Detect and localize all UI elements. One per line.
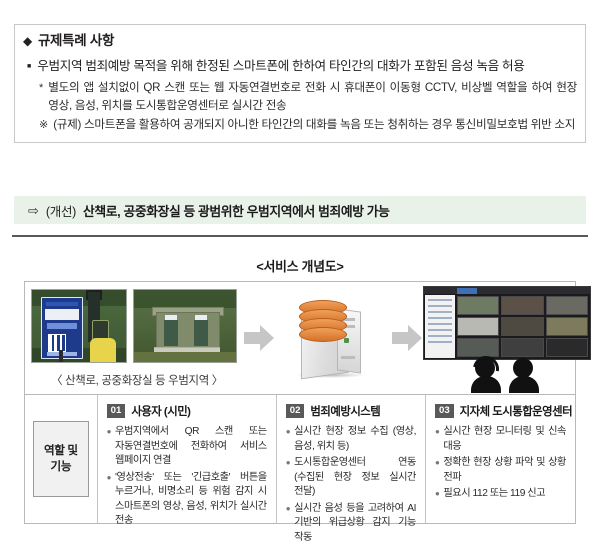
signboard-title-block bbox=[45, 309, 79, 320]
diagram-illustration-row: 〈 산책로, 공중화장실 등 우범지역 〉 bbox=[25, 282, 575, 394]
operator-head bbox=[513, 358, 533, 378]
list-item-text: 정확한 현장 상황 파악 및 상황 전파 bbox=[443, 456, 566, 485]
list-item: ● 도시통합운영센터 연동 (수집된 현장 정보 실시간 전달) bbox=[286, 456, 416, 500]
camera-list-item bbox=[428, 335, 452, 337]
block-arrow-right-icon bbox=[244, 323, 274, 353]
restroom-door-left bbox=[164, 320, 178, 346]
site-photo-pair bbox=[31, 289, 243, 363]
monitor-titlebar bbox=[424, 287, 590, 294]
improvement-text: 산책로, 공중화장실 등 광범위한 우범지역에서 범죄예방 가능 bbox=[83, 201, 389, 220]
role-column-control-center: 03 지자체 도시통합운영센터 ● 실시간 현장 모니터링 및 신속 대응 ● … bbox=[425, 395, 575, 523]
bullet-dot-icon: ● bbox=[435, 487, 439, 502]
bullet-dot-icon: ● bbox=[286, 456, 290, 471]
concept-diagram-title: <서비스 개념도> bbox=[0, 256, 600, 275]
bullet-dot-icon: ● bbox=[107, 425, 111, 440]
role-column-header: 02 범죄예방시스템 bbox=[286, 403, 416, 419]
qr-code-icon bbox=[48, 334, 66, 352]
list-item-text: 실시간 현장 정보 수집 (영상, 음성, 위치 등) bbox=[294, 425, 416, 454]
camera-tile bbox=[457, 338, 499, 357]
diagram-arrow-2 bbox=[391, 282, 423, 394]
camera-list-item bbox=[428, 305, 452, 307]
camera-grid bbox=[457, 296, 588, 357]
role-label-box: 역할 및 기능 bbox=[33, 421, 89, 497]
list-item: ● 정확한 현장 상황 파악 및 상황 전파 bbox=[435, 456, 566, 485]
bullet-dot-icon: ● bbox=[435, 425, 439, 440]
camera-tile bbox=[546, 338, 588, 357]
role-item-list: ● 우범지역에서 QR 스캔 또는 자동연결번호에 전화하여 서비스 웹페이지 … bbox=[107, 425, 267, 529]
diagram-arrow-1 bbox=[243, 282, 275, 394]
role-column-title: 지자체 도시통합운영센터 bbox=[460, 403, 572, 419]
camera-tile bbox=[501, 317, 543, 336]
step-number-badge: 02 bbox=[286, 404, 305, 418]
bullet-dot-icon: ● bbox=[435, 456, 439, 471]
camera-tile bbox=[501, 338, 543, 357]
list-item-text: 필요시 112 또는 119 신고 bbox=[443, 487, 545, 502]
camera-tile bbox=[457, 317, 499, 336]
list-item: ● 실시간 현장 정보 수집 (영상, 음성, 위치 등) bbox=[286, 425, 416, 454]
role-column-header: 03 지자체 도시통합운영센터 bbox=[435, 403, 566, 419]
person-sleeve bbox=[90, 338, 116, 363]
section-divider bbox=[12, 235, 588, 237]
step-number-badge: 03 bbox=[435, 404, 454, 418]
role-label-text: 역할 및 기능 bbox=[44, 443, 78, 475]
regulation-note-1: * 별도의 앱 설치없이 QR 스캔 또는 웹 자동연결번호로 전화 시 휴대폰… bbox=[39, 79, 577, 115]
list-item-text: 실시간 현장 모니터링 및 신속 대응 bbox=[443, 425, 566, 454]
role-function-table: 역할 및 기능 01 사용자 (시민) ● 우범지역에서 QR 스캔 또는 자동… bbox=[25, 394, 575, 523]
camera-list-item bbox=[428, 323, 452, 325]
camera-list-item bbox=[428, 311, 452, 313]
role-column-header: 01 사용자 (시민) bbox=[107, 403, 267, 419]
regulation-panel: ◆ 규제특례 사항 ■ 우범지역 범죄예방 목적을 위해 한정된 스마트폰에 한… bbox=[14, 24, 586, 143]
camera-list-item bbox=[428, 341, 452, 343]
diagram-stage-system bbox=[275, 282, 390, 380]
restroom-ground bbox=[134, 352, 236, 362]
step-number-badge: 01 bbox=[107, 404, 126, 418]
list-item: ● '영상전송' 또는 '긴급호출' 버튼을 누르거나, 비명소리 등 위험 감… bbox=[107, 471, 267, 529]
site-photo-caption: 〈 산책로, 공중화장실 등 우범지역 〉 bbox=[31, 372, 243, 388]
camera-tile bbox=[546, 317, 588, 336]
list-item: ● 실시간 현장 모니터링 및 신속 대응 bbox=[435, 425, 566, 454]
database-disc-4 bbox=[299, 327, 347, 342]
camera-list-item bbox=[428, 329, 452, 331]
role-label-line-1: 역할 및 bbox=[44, 444, 78, 457]
signboard-header-bar bbox=[46, 302, 78, 306]
list-item-text: 도시통합운영센터 연동 (수집된 현장 정보 실시간 전달) bbox=[294, 456, 416, 500]
regulation-heading: ◆ 규제특례 사항 bbox=[23, 32, 577, 50]
service-concept-diagram: 〈 산책로, 공중화장실 등 우범지역 〉 bbox=[24, 281, 576, 524]
square-bullet-icon: ■ bbox=[27, 57, 31, 76]
role-label-cell: 역할 및 기능 bbox=[25, 395, 97, 523]
rightwards-open-arrow-icon: ⇨ bbox=[28, 204, 39, 217]
role-column-user: 01 사용자 (시민) ● 우범지역에서 QR 스캔 또는 자동연결번호에 전화… bbox=[97, 395, 276, 523]
operator-body bbox=[509, 376, 539, 393]
list-item: ● 필요시 112 또는 119 신고 bbox=[435, 487, 566, 502]
list-item-text: '영상전송' 또는 '긴급호출' 버튼을 누르거나, 비명소리 등 위험 감지 … bbox=[115, 471, 267, 529]
role-column-title: 사용자 (시민) bbox=[131, 403, 190, 419]
monitor-camera-list bbox=[425, 295, 455, 358]
restroom-door-right bbox=[194, 320, 208, 346]
operator-body bbox=[471, 376, 501, 393]
regulation-note-1-text: 별도의 앱 설치없이 QR 스캔 또는 웹 자동연결번호로 전화 시 휴대폰이 … bbox=[48, 79, 577, 115]
crime-prevention-server-icon bbox=[285, 294, 381, 380]
regulation-note-2-text: (규제) 스마트폰을 활용하여 공개되지 아니한 타인간의 대화를 녹음 또는 … bbox=[53, 116, 577, 134]
cctv-monitoring-wall-image bbox=[423, 286, 591, 390]
control-room-operators-icon bbox=[471, 356, 543, 390]
signboard-subtitle-block bbox=[47, 323, 77, 329]
camera-list-item bbox=[428, 299, 452, 301]
regulation-heading-text: 규제특례 사항 bbox=[38, 32, 114, 50]
role-column-system: 02 범죄예방시스템 ● 실시간 현장 정보 수집 (영상, 음성, 위치 등)… bbox=[276, 395, 425, 523]
role-item-list: ● 실시간 현장 모니터링 및 신속 대응 ● 정확한 현장 상황 파악 및 상… bbox=[435, 425, 566, 502]
camera-tile bbox=[501, 296, 543, 315]
monitoring-screen bbox=[423, 286, 591, 360]
diamond-icon: ◆ bbox=[23, 32, 32, 50]
signboard-pole bbox=[59, 350, 63, 363]
bullet-dot-icon: ● bbox=[107, 471, 111, 486]
server-slot-3 bbox=[341, 356, 355, 359]
restroom-foliage bbox=[134, 290, 236, 308]
improvement-label: (개선) bbox=[46, 201, 76, 220]
regulation-note-2: ※ (규제) 스마트폰을 활용하여 공개되지 아니한 타인간의 대화를 녹음 또… bbox=[39, 116, 577, 134]
block-arrow-right-icon bbox=[392, 323, 422, 353]
list-item-text: 우범지역에서 QR 스캔 또는 자동연결번호에 전화하여 서비스 웹페이지 연결 bbox=[115, 425, 267, 469]
reference-mark: ※ bbox=[39, 116, 48, 134]
improvement-strip: ⇨ (개선) 산책로, 공중화장실 등 광범위한 우범지역에서 범죄예방 가능 bbox=[14, 196, 586, 224]
diagram-stage-site: 〈 산책로, 공중화장실 등 우범지역 〉 bbox=[25, 282, 243, 388]
public-restroom-photo bbox=[133, 289, 237, 363]
walking-path-safety-sign-photo bbox=[31, 289, 127, 363]
regulation-bullet-text: 우범지역 범죄예방 목적을 위해 한정된 스마트폰에 한하여 타인간의 대화가 … bbox=[37, 57, 577, 76]
list-item-text: 실시간 음성 등을 고려하여 AI 기반의 위급상황 감지 기능 작동 bbox=[294, 502, 416, 545]
role-column-title: 범죄예방시스템 bbox=[310, 403, 380, 419]
diagram-stage-control-center bbox=[423, 282, 575, 390]
bullet-dot-icon: ● bbox=[286, 425, 290, 440]
role-label-line-2: 기능 bbox=[51, 460, 72, 473]
camera-tile bbox=[546, 296, 588, 315]
role-item-list: ● 실시간 현장 정보 수집 (영상, 음성, 위치 등) ● 도시통합운영센터… bbox=[286, 425, 416, 545]
bullet-dot-icon: ● bbox=[286, 502, 290, 517]
regulation-bullet: ■ 우범지역 범죄예방 목적을 위해 한정된 스마트폰에 한하여 타인간의 대화… bbox=[27, 57, 577, 76]
monitor-active-tab bbox=[457, 288, 477, 294]
camera-tile bbox=[457, 296, 499, 315]
asterisk-mark: * bbox=[39, 79, 43, 97]
database-stack-icon bbox=[299, 300, 345, 344]
list-item: ● 실시간 음성 등을 고려하여 AI 기반의 위급상황 감지 기능 작동 bbox=[286, 502, 416, 545]
camera-list-item bbox=[428, 317, 452, 319]
list-item: ● 우범지역에서 QR 스캔 또는 자동연결번호에 전화하여 서비스 웹페이지 … bbox=[107, 425, 267, 469]
